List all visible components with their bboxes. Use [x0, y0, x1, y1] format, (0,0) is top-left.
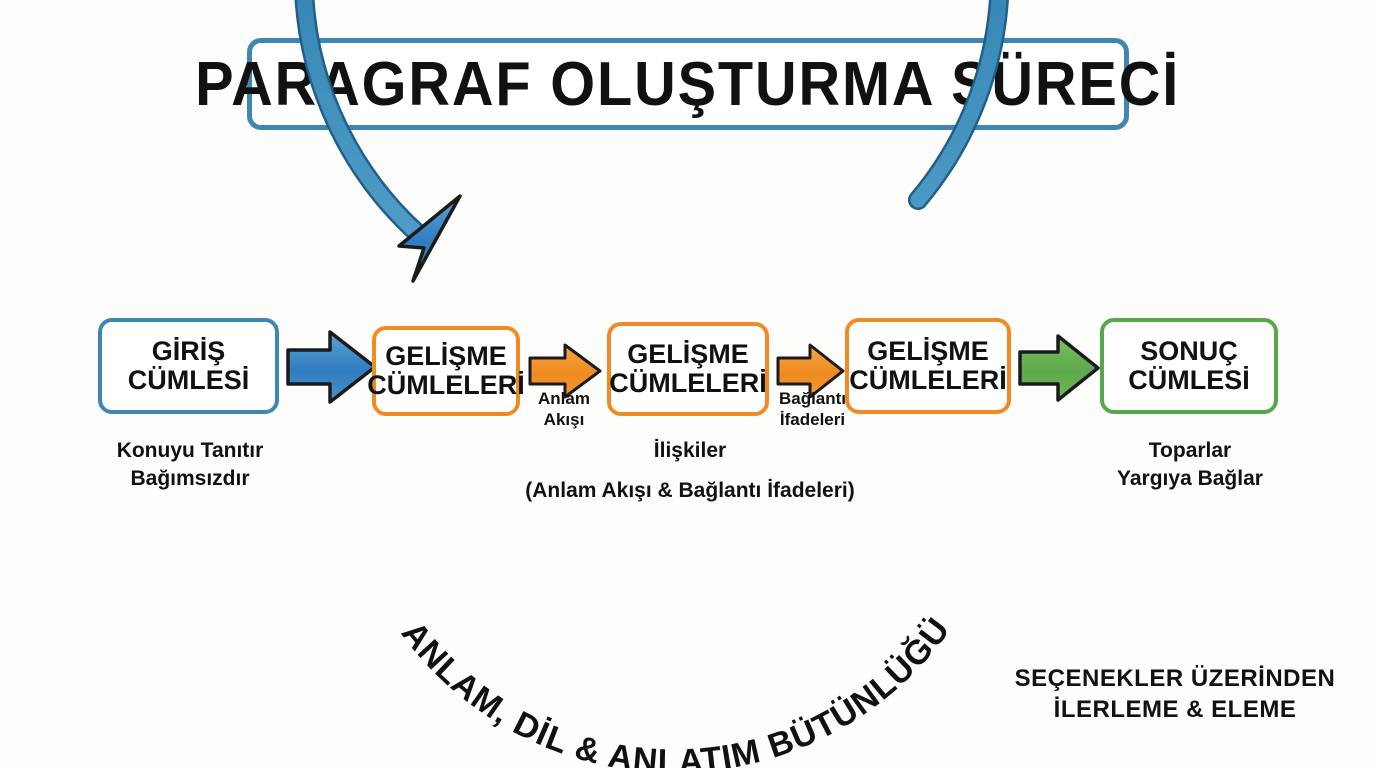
arrow-label-line1: Anlam — [518, 388, 610, 409]
caption-line2: Bağımsızdır — [75, 465, 305, 493]
stage-label-line1: GELİŞME — [627, 340, 749, 369]
arrow-label-line1: Bağlantı — [765, 388, 860, 409]
arrow-label-baglanti-ifadeleri: Bağlantı İfadeleri — [765, 388, 860, 431]
stage-box-gelisme-cumleleri-2[interactable]: GELİŞME CÜMLELERİ — [607, 322, 769, 416]
caption-line2: (Anlam Akışı & Bağlantı İfadeleri) — [430, 477, 950, 505]
stage-box-gelisme-cumleleri-3[interactable]: GELİŞME CÜMLELERİ — [845, 318, 1011, 414]
stage-label-line2: CÜMLESİ — [128, 366, 250, 395]
arrow-gelisme3-to-sonuc — [1020, 336, 1098, 400]
stage-label-line2: CÜMLELERİ — [609, 369, 767, 398]
stage-label-line1: GELİŞME — [867, 337, 989, 366]
note-line2: İLERLEME & ELEME — [990, 695, 1360, 726]
note-line1: SEÇENEKLER ÜZERİNDEN — [990, 664, 1360, 695]
stage-label-line1: SONUÇ — [1140, 337, 1238, 366]
cycle-arc-arrowhead — [399, 196, 460, 281]
cycle-arc — [304, 0, 1000, 232]
caption-line1: Konuyu Tanıtır — [75, 437, 305, 465]
arc-curved-label: ANLAM, DİL & ANLATIM BÜTÜNLÜĞÜ — [394, 611, 958, 768]
stage-label-line1: GELİŞME — [385, 342, 507, 371]
note-secenekler-uzerinden: SEÇENEKLER ÜZERİNDEN İLERLEME & ELEME — [990, 664, 1360, 725]
stage-label-line2: CÜMLELERİ — [849, 366, 1007, 395]
arrow-label-line2: Akışı — [518, 409, 610, 430]
caption-sonuc-cumlesi: Toparlar Yargıya Bağlar — [1080, 437, 1300, 492]
stage-box-gelisme-cumleleri-1[interactable]: GELİŞME CÜMLELERİ — [372, 326, 520, 416]
stage-label-line1: GİRİŞ — [152, 337, 226, 366]
arrow-giris-to-gelisme1 — [288, 332, 375, 402]
arrow-label-line2: İfadeleri — [765, 409, 860, 430]
diagram-canvas: PARAGRAF OLUŞTURMA SÜRECİ — [0, 0, 1376, 768]
caption-line1: İlişkiler — [430, 437, 950, 465]
caption-line2: Yargıya Bağlar — [1080, 465, 1300, 493]
stage-box-sonuc-cumlesi[interactable]: SONUÇ CÜMLESİ — [1100, 318, 1278, 414]
stage-label-line2: CÜMLESİ — [1128, 366, 1250, 395]
caption-line1: Toparlar — [1080, 437, 1300, 465]
arc-curved-label-text: ANLAM, DİL & ANLATIM BÜTÜNLÜĞÜ — [394, 611, 958, 768]
stage-label-line2: CÜMLELERİ — [367, 371, 525, 400]
caption-giris-cumlesi: Konuyu Tanıtır Bağımsızdır — [75, 437, 305, 492]
stage-box-giris-cumlesi[interactable]: GİRİŞ CÜMLESİ — [98, 318, 279, 414]
caption-gelisme-iliskiler: İlişkiler (Anlam Akışı & Bağlantı İfadel… — [430, 437, 950, 504]
arrow-label-anlam-akisi: Anlam Akışı — [518, 388, 610, 431]
